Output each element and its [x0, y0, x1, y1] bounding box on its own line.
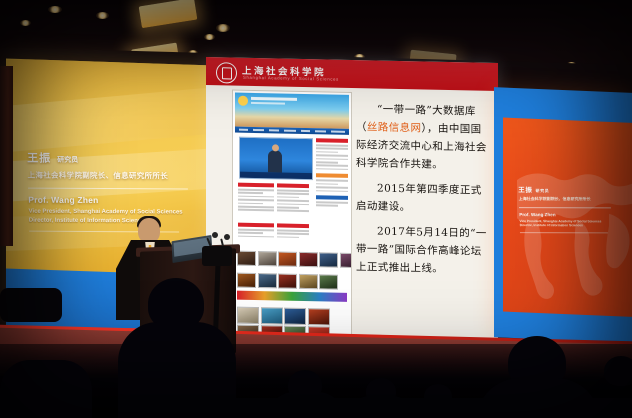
- right-screen-panel: 王振研究员 上海社会科学院副院长、信息研究所所长 Prof. Wang Zhen…: [503, 117, 632, 317]
- speaker-name-cn: 王振研究员: [518, 184, 618, 194]
- speaker-role-cn: 研究员: [57, 157, 78, 164]
- site-thumbnail-row: [237, 251, 352, 269]
- section-header: [316, 138, 348, 143]
- video-subject: [268, 150, 282, 172]
- website-screenshot: [232, 89, 352, 342]
- audience-head: [604, 356, 632, 386]
- highlight-term: 丝路信息网: [367, 121, 422, 134]
- site-news-column: [238, 223, 274, 240]
- speaker-title-cn: 上海社会科学院副院长、信息研究所所长: [519, 196, 619, 202]
- site-banner: [235, 93, 349, 129]
- video-subject-head: [272, 144, 279, 151]
- ceiling-spotlight: [216, 24, 230, 32]
- section-header: [316, 174, 348, 179]
- slide-paragraph-3: 2017年5月14日的“一带一路”国际合作高峰论坛上正式推出上线。: [356, 222, 488, 279]
- section-header: [238, 183, 274, 188]
- speaker-name-en: Prof. Wang Zhen: [28, 195, 198, 206]
- site-navigation-bar: [235, 127, 349, 135]
- site-news-column: [238, 183, 274, 213]
- section-header: [238, 223, 274, 228]
- site-color-divider: [237, 291, 347, 302]
- audience-row: [232, 398, 632, 418]
- ceiling-spotlight: [96, 12, 109, 19]
- slide-org-name-en: Shanghai Academy of Social Sciences: [243, 75, 339, 82]
- divider: [519, 207, 611, 208]
- ceiling-light-panel: [139, 0, 198, 28]
- microphone-head: [224, 234, 230, 240]
- slide-text-block: “一带一路”大数据库（丝路信息网），由中国国际经济交流中心和上海社会科学院合作共…: [356, 100, 488, 286]
- foreground-camera-lens: [0, 288, 62, 322]
- divider: [28, 188, 188, 190]
- site-news-column: [277, 183, 309, 213]
- site-logo-icon: [238, 96, 248, 106]
- wall-pillar: [0, 66, 13, 246]
- speaker-name-cn-text: 王振: [518, 187, 532, 194]
- microphone-head: [212, 232, 218, 238]
- section-header: [277, 223, 309, 228]
- site-video-player: [239, 137, 313, 181]
- speaker-name-cn: 王振研究员: [27, 150, 197, 167]
- site-thumbnail-row: [237, 307, 330, 326]
- speaker-title-cn: 上海社会科学院副院长、信息研究所所长: [27, 170, 197, 182]
- site-sidebar-news: [316, 138, 348, 209]
- audience-shoulders: [0, 360, 92, 418]
- speaker-name-cn-text: 王振: [27, 153, 51, 165]
- site-subtitle-bar: [251, 102, 285, 105]
- conference-photo: 王振研究员 上海社会科学院副院长、信息研究所所长 Prof. Wang Zhen…: [0, 0, 632, 418]
- slide-paragraph-1: “一带一路”大数据库（丝路信息网），由中国国际经济交流中心和上海社会科学院合作共…: [356, 100, 488, 175]
- slide-header-bar: 上海社会科学院 Shanghai Academy of Social Scien…: [206, 57, 498, 91]
- presenter-head: [138, 218, 160, 243]
- speaker-name-en: Prof. Wang Zhen: [519, 212, 619, 217]
- section-header: [277, 183, 309, 188]
- ceiling-spotlight: [20, 20, 31, 26]
- right-projection-screen: 王振研究员 上海社会科学院副院长、信息研究所所长 Prof. Wang Zhen…: [494, 87, 632, 343]
- video-caption-bar: [240, 172, 312, 180]
- site-thumbnail-row: [237, 273, 338, 290]
- ceiling-spotlight: [48, 6, 62, 13]
- section-header: [316, 195, 348, 200]
- speaker-identity-block: 王振研究员 上海社会科学院副院长、信息研究所所长 Prof. Wang Zhen…: [518, 184, 620, 233]
- sass-seal-logo-icon: [216, 62, 237, 83]
- video-camera: [202, 246, 232, 266]
- slide-paragraph-2: 2015年第四季度正式启动建设。: [356, 179, 488, 218]
- site-title-bar: [251, 97, 297, 101]
- speaker-title-en: Vice President, Shanghai Academy of Soci…: [519, 219, 619, 229]
- speaker-title-en-line2: Director, Institute of Information Scien…: [520, 224, 620, 229]
- audience-shoulders: [118, 322, 236, 418]
- speaker-role-cn: 研究员: [535, 188, 549, 193]
- ceiling-spotlight: [204, 34, 215, 40]
- center-projection-screen: 上海社会科学院 Shanghai Academy of Social Scien…: [206, 57, 498, 345]
- site-news-column: [277, 223, 309, 240]
- world-map-graphic: [513, 152, 632, 317]
